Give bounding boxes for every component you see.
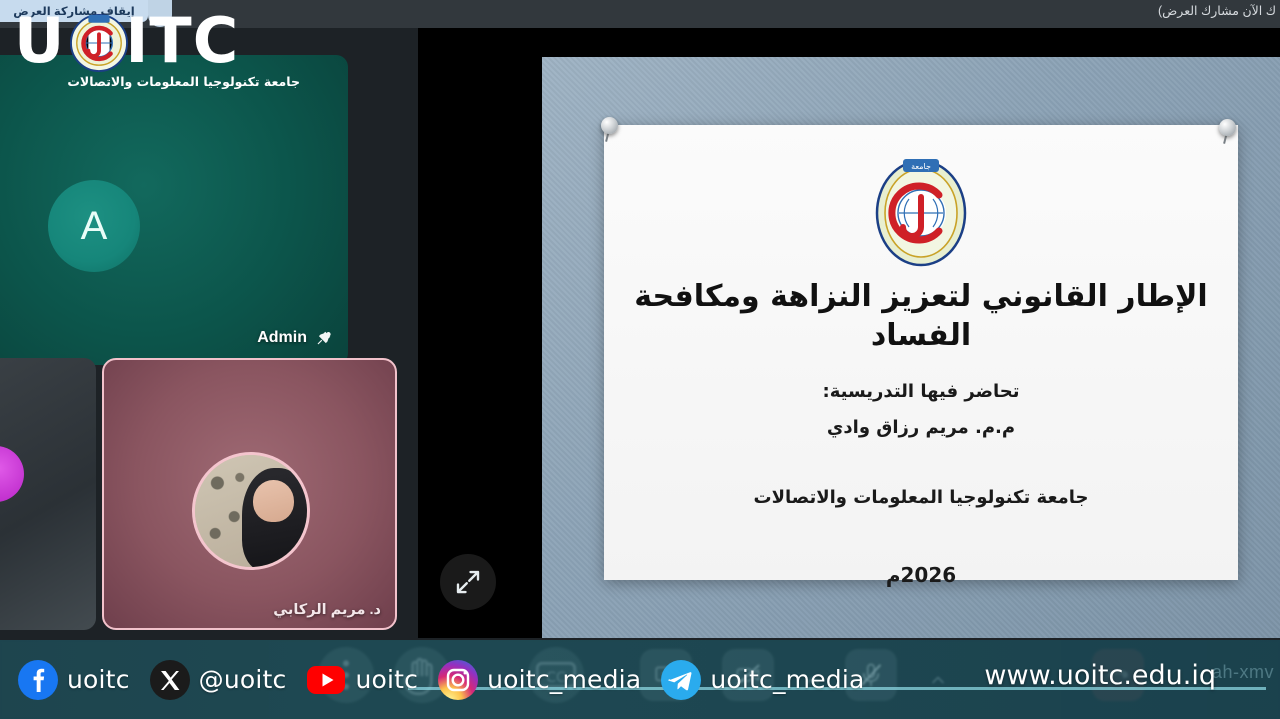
x-twitter-icon bbox=[150, 660, 190, 700]
slide-title: الإطار القانوني لتعزيز النزاهة ومكافحة ا… bbox=[628, 277, 1214, 355]
now-sharing-label: ك الآن مشارك العرض) bbox=[1158, 3, 1276, 18]
participant-name-badge: د. مريم الركابي bbox=[273, 602, 381, 618]
shared-screen-stage[interactable]: جامعة الإطار القانوني لتعزيز النزاهة ومك… bbox=[418, 28, 1280, 638]
svg-text:جامعة: جامعة bbox=[911, 162, 931, 171]
share-pill-tail bbox=[148, 0, 172, 27]
social-banner: uoitc @uoitc uoitc bbox=[0, 640, 1280, 719]
meeting-screen: إيقاف مشاركة العرض ك الآن مشارك العرض) A… bbox=[0, 0, 1280, 719]
uoitc-slide-logo-icon: جامعة bbox=[861, 151, 981, 271]
participant-name-badge: Admin bbox=[257, 329, 332, 347]
instagram-icon bbox=[438, 660, 478, 700]
social-x[interactable]: @uoitc bbox=[150, 660, 287, 700]
slide-year: 2026م bbox=[628, 563, 1214, 587]
slide-presenter-label: تحاضر فيها التدريسية: bbox=[628, 381, 1214, 402]
pin-icon bbox=[315, 330, 332, 347]
meeting-code-ghost: ah-xmv bbox=[1212, 662, 1274, 683]
telegram-handle: uoitc_media bbox=[710, 665, 864, 694]
participant-tile-maryam[interactable]: د. مريم الركابي bbox=[102, 358, 397, 630]
avatar-photo-face bbox=[253, 480, 293, 523]
youtube-icon bbox=[306, 660, 346, 700]
presentation-slide: جامعة الإطار القانوني لتعزيز النزاهة ومك… bbox=[542, 57, 1280, 638]
social-telegram[interactable]: uoitc_media bbox=[661, 660, 864, 700]
top-bar: إيقاف مشاركة العرض ك الآن مشارك العرض) bbox=[0, 0, 1280, 28]
avatar bbox=[192, 452, 310, 570]
youtube-handle: uoitc bbox=[355, 665, 418, 694]
social-youtube[interactable]: uoitc bbox=[306, 660, 418, 700]
stop-screen-share-label: إيقاف مشاركة العرض bbox=[13, 4, 134, 18]
social-facebook[interactable]: uoitc bbox=[18, 660, 130, 700]
expand-arrows-icon bbox=[453, 567, 483, 597]
website-url: www.uoitc.edu.iq bbox=[984, 660, 1216, 691]
pushpin-icon bbox=[600, 117, 620, 143]
slide-paper: جامعة الإطار القانوني لتعزيز النزاهة ومك… bbox=[604, 125, 1238, 580]
participant-name: د. مريم الركابي bbox=[273, 602, 381, 618]
avatar-initial-letter: A bbox=[81, 204, 108, 249]
stop-screen-share-button[interactable]: إيقاف مشاركة العرض bbox=[0, 0, 148, 22]
instagram-handle: uoitc_media bbox=[487, 665, 641, 694]
avatar: A bbox=[48, 180, 140, 272]
x-handle: @uoitc bbox=[199, 665, 287, 694]
slide-institution: جامعة تكنولوجيا المعلومات والاتصالات bbox=[628, 487, 1214, 508]
participant-tile-admin[interactable]: A Admin bbox=[0, 55, 348, 365]
facebook-handle: uoitc bbox=[67, 665, 130, 694]
expand-icon[interactable] bbox=[440, 554, 496, 610]
social-instagram[interactable]: uoitc_media bbox=[438, 660, 641, 700]
participant-tiles: A Admin د. مريم الركابي bbox=[0, 28, 418, 638]
telegram-icon bbox=[661, 660, 701, 700]
pushpin-icon bbox=[1218, 119, 1238, 145]
participant-name: Admin bbox=[257, 329, 307, 347]
participant-tile-offscreen[interactable] bbox=[0, 358, 96, 630]
avatar bbox=[0, 446, 24, 502]
slide-presenter-name: م.م. مريم رزاق وادي bbox=[628, 417, 1214, 438]
facebook-icon bbox=[18, 660, 58, 700]
